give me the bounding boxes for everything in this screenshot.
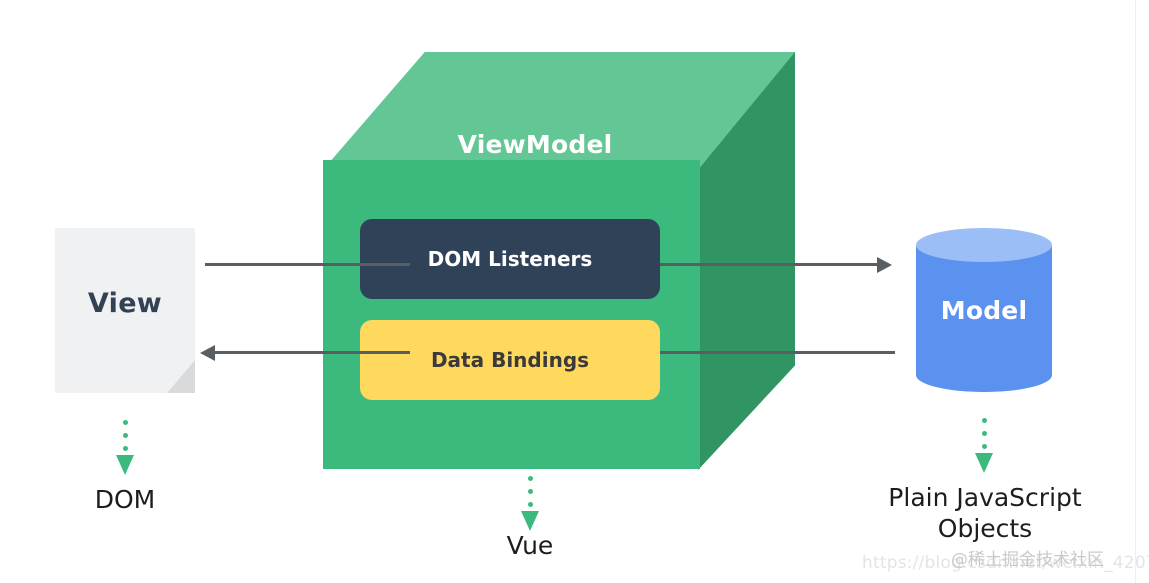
viewmodel-label: ViewModel xyxy=(275,130,795,159)
dom-caption: DOM xyxy=(35,485,215,516)
dot-icon xyxy=(982,418,987,423)
arrowhead-right-to-model-icon xyxy=(877,257,892,273)
dotted-arrowhead-icon xyxy=(116,455,134,475)
connector-view-to-viewmodel xyxy=(205,263,410,266)
dotted-arrowhead-icon xyxy=(521,511,539,531)
dot-icon xyxy=(123,433,128,438)
dot-icon xyxy=(123,420,128,425)
model-caption: Plain JavaScript Objects xyxy=(875,483,1095,544)
view-label: View xyxy=(55,228,195,393)
dom-listeners-chip[interactable]: DOM Listeners xyxy=(360,219,660,299)
dot-icon xyxy=(982,431,987,436)
arrowhead-left-to-view-icon xyxy=(200,345,215,361)
dot-icon xyxy=(528,489,533,494)
dotted-arrowhead-icon xyxy=(975,453,993,473)
dot-icon xyxy=(982,444,987,449)
dot-icon xyxy=(528,476,533,481)
model-caption-line-1: Plain JavaScript xyxy=(875,483,1095,514)
page-border-rule xyxy=(1135,0,1136,583)
model-caption-line-2: Objects xyxy=(875,514,1095,545)
model-node[interactable]: Model xyxy=(916,228,1052,392)
cube-front-face xyxy=(323,160,700,469)
model-label: Model xyxy=(916,228,1052,392)
data-bindings-chip[interactable]: Data Bindings xyxy=(360,320,660,400)
vue-caption: Vue xyxy=(440,531,620,562)
connector-viewmodel-to-view xyxy=(215,351,410,354)
dot-icon xyxy=(528,502,533,507)
dot-icon xyxy=(123,446,128,451)
view-node[interactable]: View xyxy=(55,228,195,393)
dom-listeners-label: DOM Listeners xyxy=(428,247,593,271)
diagram-canvas: View ViewModel DOM Listeners Data Bindin… xyxy=(0,0,1149,583)
data-bindings-label: Data Bindings xyxy=(431,348,589,372)
connector-model-to-viewmodel xyxy=(660,351,895,354)
watermark-brand: @稀土掘金技术社区 xyxy=(951,545,1104,570)
connector-viewmodel-to-model xyxy=(660,263,882,266)
